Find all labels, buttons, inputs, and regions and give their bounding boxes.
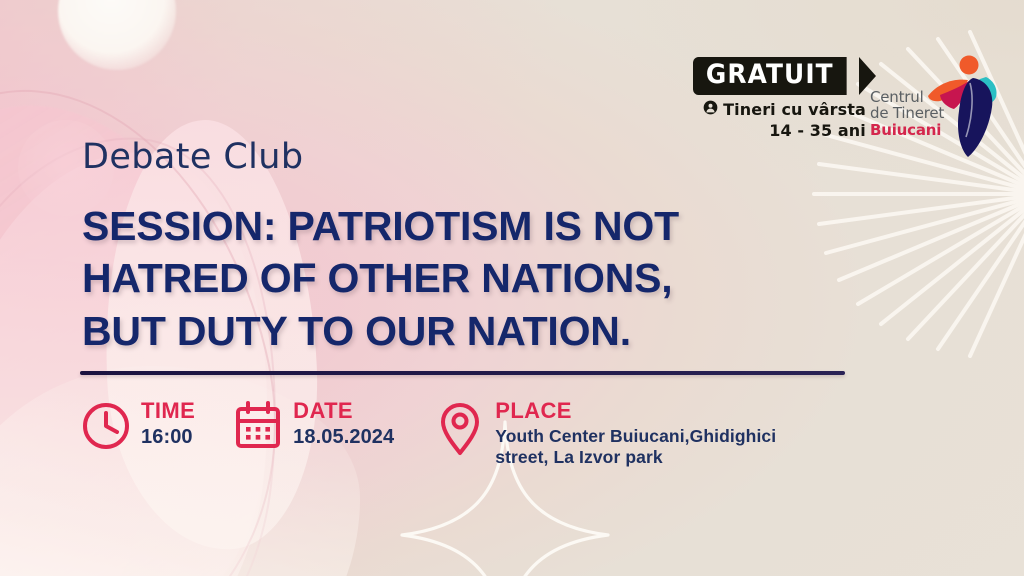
logo-line-2: de Tineret	[870, 105, 944, 121]
page-kicker: Debate Club	[82, 137, 304, 177]
gratuit-banner: GRATUIT	[693, 57, 876, 95]
detail-date-value: 18.05.2024	[293, 426, 394, 449]
detail-place: PLACE Youth Center Buiucani,Ghidighici s…	[434, 398, 776, 469]
page-title: SESSION: PATRIOTISM IS NOT HATRED OF OTH…	[82, 200, 782, 357]
free-admission-badge: GRATUIT Tineri cu vârsta 14 - 35 ani	[693, 57, 876, 140]
headline-line: BUT DUTY TO OUR NATION.	[82, 305, 782, 357]
detail-place-value-line-2: street, La Izvor park	[495, 447, 776, 469]
headline-line: SESSION: PATRIOTISM IS NOT	[82, 200, 782, 252]
age-line-2: 14 - 35 ani	[703, 121, 866, 141]
logo-line-1: Centrul	[870, 89, 944, 105]
detail-date: DATE 18.05.2024	[232, 398, 394, 452]
horizontal-divider	[80, 371, 845, 375]
detail-time: TIME 16:00	[80, 398, 195, 452]
location-pin-icon	[434, 400, 486, 460]
detail-date-label: DATE	[293, 398, 353, 423]
gratuit-label: GRATUIT	[693, 57, 847, 94]
calendar-icon	[232, 400, 284, 452]
detail-time-value: 16:00	[141, 426, 195, 449]
event-details-bar: TIME 16:00	[80, 398, 776, 469]
age-line-1: Tineri cu vârsta	[723, 100, 866, 120]
event-poster: GRATUIT Tineri cu vârsta 14 - 35 ani	[0, 0, 1024, 576]
detail-time-label: TIME	[141, 398, 195, 423]
detail-place-value-line-1: Youth Center Buiucani,Ghidighici	[495, 426, 776, 448]
age-range-note: Tineri cu vârsta 14 - 35 ani	[703, 100, 866, 140]
poster-content: GRATUIT Tineri cu vârsta 14 - 35 ani	[0, 0, 1024, 576]
headline-line: HATRED OF OTHER NATIONS,	[82, 252, 782, 304]
clock-icon	[80, 400, 132, 452]
detail-place-label: PLACE	[495, 398, 572, 423]
logo-line-3: Buiucani	[870, 122, 944, 138]
centrul-de-tineret-logo: Centrul de Tineret Buiucani	[876, 55, 996, 159]
person-icon	[703, 100, 718, 120]
logo-wordmark: Centrul de Tineret Buiucani	[870, 89, 944, 139]
